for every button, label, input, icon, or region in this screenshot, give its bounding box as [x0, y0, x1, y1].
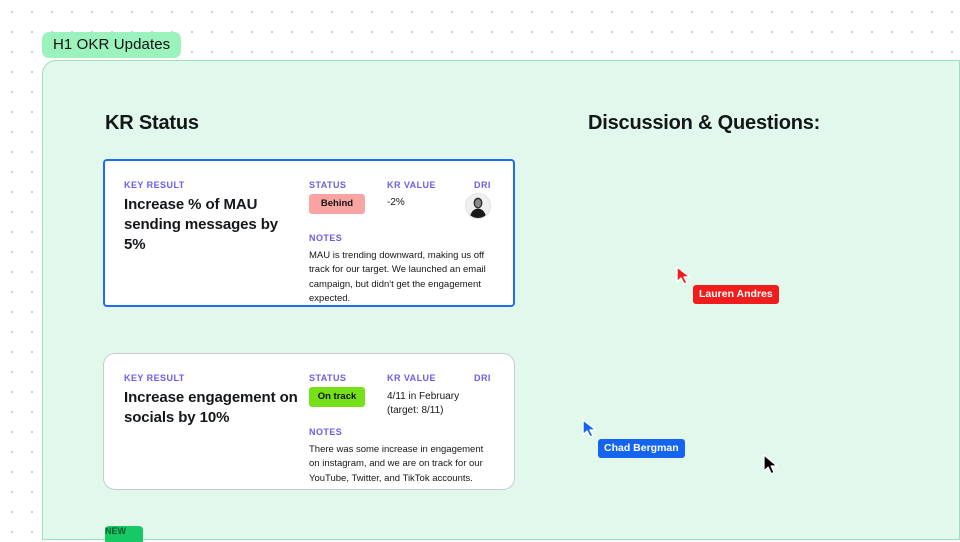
status-badge[interactable]: Behind: [309, 194, 365, 214]
collaborator-label-chad: Chad Bergman: [598, 439, 685, 458]
notes-body: There was some increase in engagement on…: [309, 443, 491, 486]
kr-card-selected[interactable]: KEY RESULT Increase % of MAU sending mes…: [103, 159, 515, 307]
cursor-arrow-icon: [763, 454, 780, 476]
cursor-arrow-icon: [676, 266, 694, 286]
column-label-key-result: KEY RESULT: [124, 180, 185, 190]
column-label-notes: NOTES: [309, 427, 342, 437]
dri-avatar[interactable]: [465, 193, 491, 219]
kr-title: Increase engagement on socials by 10%: [124, 388, 302, 428]
kr-status-heading: KR Status: [105, 112, 199, 135]
cursor-arrow-icon: [582, 419, 600, 439]
column-label-dri: DRI: [474, 180, 491, 190]
column-label-kr-value: KR VALUE: [387, 373, 436, 383]
avatar-portrait-icon: [466, 194, 490, 218]
status-badge[interactable]: On track: [309, 387, 365, 407]
kr-value: 4/11 in February (target: 8/11): [387, 390, 459, 418]
collaborator-cursor-lauren: [676, 266, 694, 291]
column-label-key-result: KEY RESULT: [124, 373, 185, 383]
column-label-status: STATUS: [309, 373, 346, 383]
kr-title: Increase % of MAU sending messages by 5%: [124, 195, 299, 255]
collaborator-label-lauren: Lauren Andres: [693, 285, 779, 304]
board-title-badge[interactable]: H1 OKR Updates: [42, 32, 181, 58]
kr-value: -2%: [387, 196, 405, 210]
column-label-status: STATUS: [309, 180, 346, 190]
notes-body: MAU is trending downward, making us off …: [309, 249, 491, 306]
column-label-kr-value: KR VALUE: [387, 180, 436, 190]
column-label-dri: DRI: [474, 373, 491, 383]
discussion-questions-heading: Discussion & Questions:: [588, 112, 820, 135]
system-cursor: [763, 454, 780, 481]
column-label-notes: NOTES: [309, 233, 342, 243]
kr-card[interactable]: KEY RESULT Increase engagement on social…: [103, 353, 515, 490]
